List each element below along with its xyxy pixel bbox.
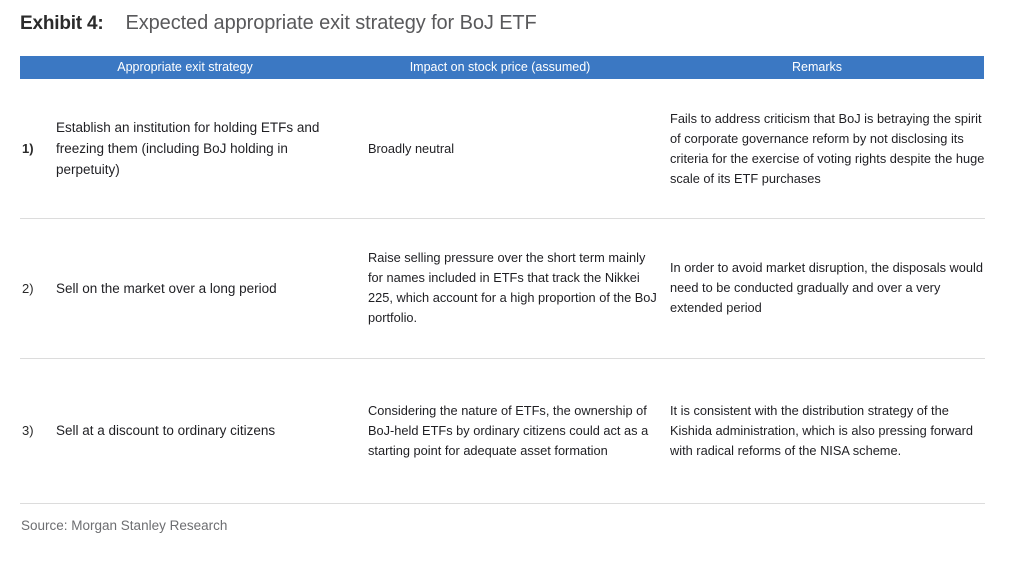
cell-remarks: Fails to address criticism that BoJ is b… — [670, 109, 990, 189]
source-note: Source: Morgan Stanley Research — [21, 518, 227, 533]
exhibit-title-text: Expected appropriate exit strategy for B… — [126, 12, 537, 35]
row-number: 2) — [0, 281, 56, 296]
row-divider — [20, 358, 985, 359]
row-divider — [20, 218, 985, 219]
cell-impact: Raise selling pressure over the short te… — [368, 248, 670, 328]
exhibit-title-label: Exhibit 4: — [20, 13, 104, 35]
cell-remarks: It is consistent with the distribution s… — [670, 401, 990, 461]
column-header-impact: Impact on stock price (assumed) — [350, 56, 650, 79]
cell-strategy: Sell at a discount to ordinary citizens — [56, 420, 368, 441]
cell-strategy: Sell on the market over a long period — [56, 278, 368, 299]
cell-impact: Considering the nature of ETFs, the owne… — [368, 401, 670, 461]
cell-strategy: Establish an institution for holding ETF… — [56, 117, 368, 180]
exhibit-container: Exhibit 4: Expected appropriate exit str… — [0, 0, 1024, 570]
column-header-strategy: Appropriate exit strategy — [20, 56, 350, 79]
row-number: 1) — [0, 141, 56, 156]
exhibit-title: Exhibit 4: Expected appropriate exit str… — [20, 12, 537, 35]
cell-remarks: In order to avoid market disruption, the… — [670, 258, 990, 318]
table-body: 1) Establish an institution for holding … — [0, 79, 1024, 503]
footer-divider — [20, 503, 985, 504]
table-row: 3) Sell at a discount to ordinary citize… — [0, 358, 1024, 503]
row-number: 3) — [0, 423, 56, 438]
table-row: 1) Establish an institution for holding … — [0, 79, 1024, 218]
column-header-remarks: Remarks — [650, 56, 984, 79]
cell-impact: Broadly neutral — [368, 139, 670, 159]
table-row: 2) Sell on the market over a long period… — [0, 218, 1024, 358]
table-header-row: Appropriate exit strategy Impact on stoc… — [20, 56, 984, 79]
